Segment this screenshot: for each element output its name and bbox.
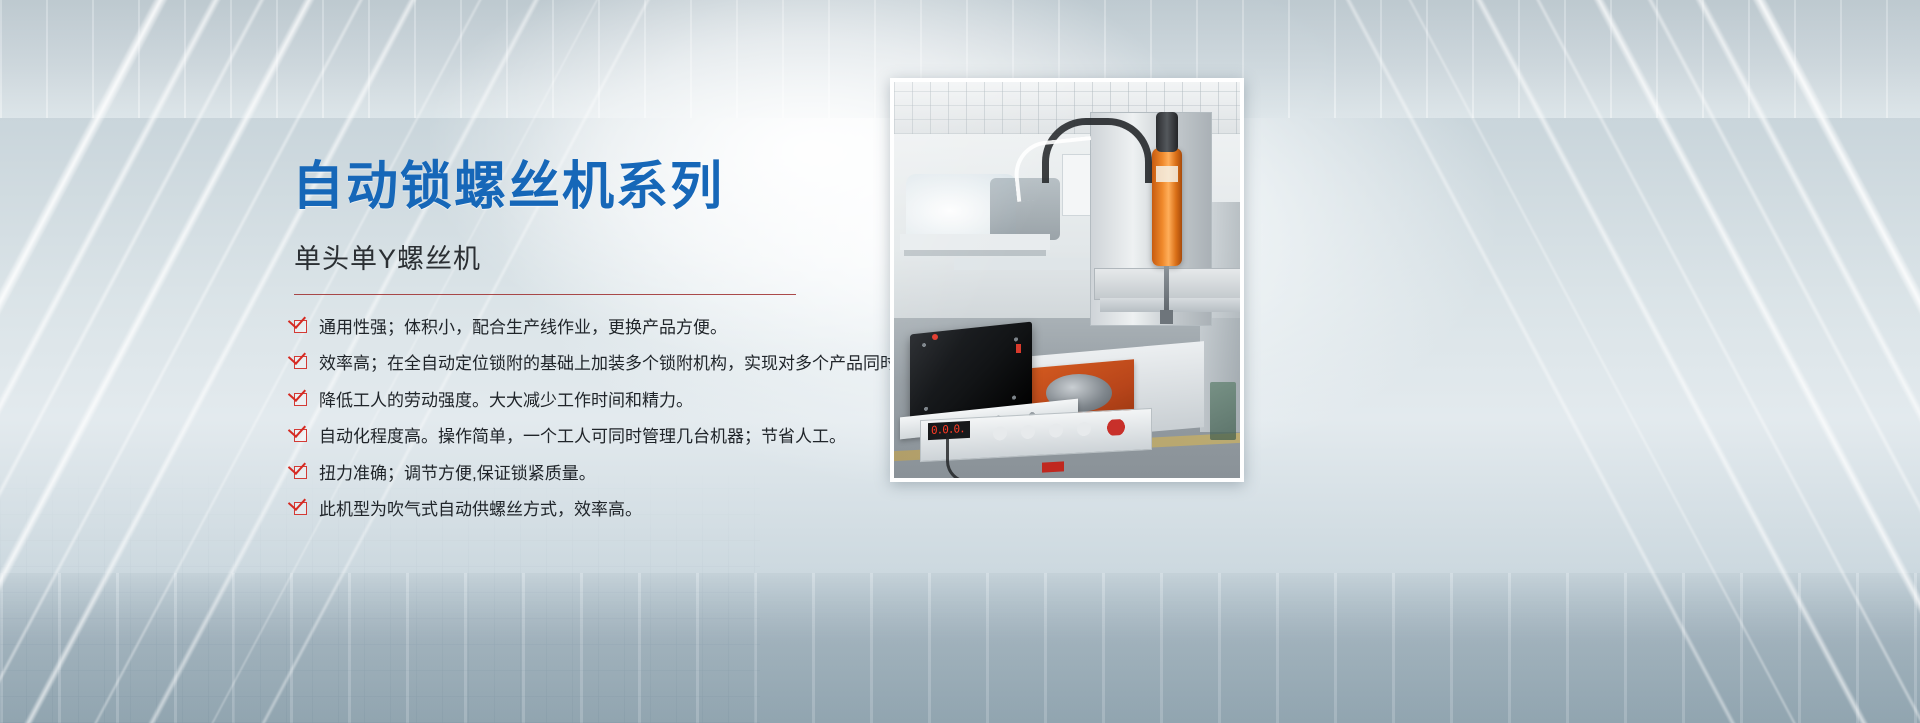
list-item: 此机型为吹气式自动供螺丝方式，效率高。 xyxy=(294,497,892,523)
check-icon xyxy=(294,320,307,333)
product-photo-frame xyxy=(890,78,1244,482)
feature-text: 此机型为吹气式自动供螺丝方式，效率高。 xyxy=(319,497,642,523)
banner-content: 自动锁螺丝机系列 单头单Y螺丝机 通用性强；体积小，配合生产线作业，更换产品方便… xyxy=(0,0,1920,723)
list-item: 自动化程度高。操作简单，一个工人可同时管理几台机器；节省人工。 xyxy=(294,424,892,450)
check-icon xyxy=(294,393,307,406)
check-icon xyxy=(294,429,307,442)
check-icon xyxy=(294,466,307,479)
feature-text: 降低工人的劳动强度。大大减少工作时间和精力。 xyxy=(319,388,693,414)
check-icon xyxy=(294,502,307,515)
feature-text: 自动化程度高。操作简单，一个工人可同时管理几台机器；节省人工。 xyxy=(319,424,846,450)
feature-text: 扭力准确；调节方便,保证锁紧质量。 xyxy=(319,461,596,487)
title-divider xyxy=(294,294,796,295)
product-banner: 自动锁螺丝机系列 单头单Y螺丝机 通用性强；体积小，配合生产线作业，更换产品方便… xyxy=(0,0,1920,723)
list-item: 通用性强；体积小，配合生产线作业，更换产品方便。 xyxy=(294,315,892,341)
list-item: 效率高；在全自动定位锁附的基础上加装多个锁附机构，实现对多个产品同时锁附。 xyxy=(294,351,892,377)
banner-text-column: 自动锁螺丝机系列 单头单Y螺丝机 通用性强；体积小，配合生产线作业，更换产品方便… xyxy=(292,160,892,534)
list-item: 扭力准确；调节方便,保证锁紧质量。 xyxy=(294,461,892,487)
photo-gloss-overlay xyxy=(894,82,1240,478)
page-title: 自动锁螺丝机系列 xyxy=(292,160,892,215)
product-photo xyxy=(894,82,1240,478)
feature-list: 通用性强；体积小，配合生产线作业，更换产品方便。 效率高；在全自动定位锁附的基础… xyxy=(292,315,892,523)
feature-text: 通用性强；体积小，配合生产线作业，更换产品方便。 xyxy=(319,315,727,341)
list-item: 降低工人的劳动强度。大大减少工作时间和精力。 xyxy=(294,388,892,414)
check-icon xyxy=(294,356,307,369)
page-subtitle: 单头单Y螺丝机 xyxy=(294,237,892,276)
feature-text: 效率高；在全自动定位锁附的基础上加装多个锁附机构，实现对多个产品同时锁附。 xyxy=(319,351,948,377)
